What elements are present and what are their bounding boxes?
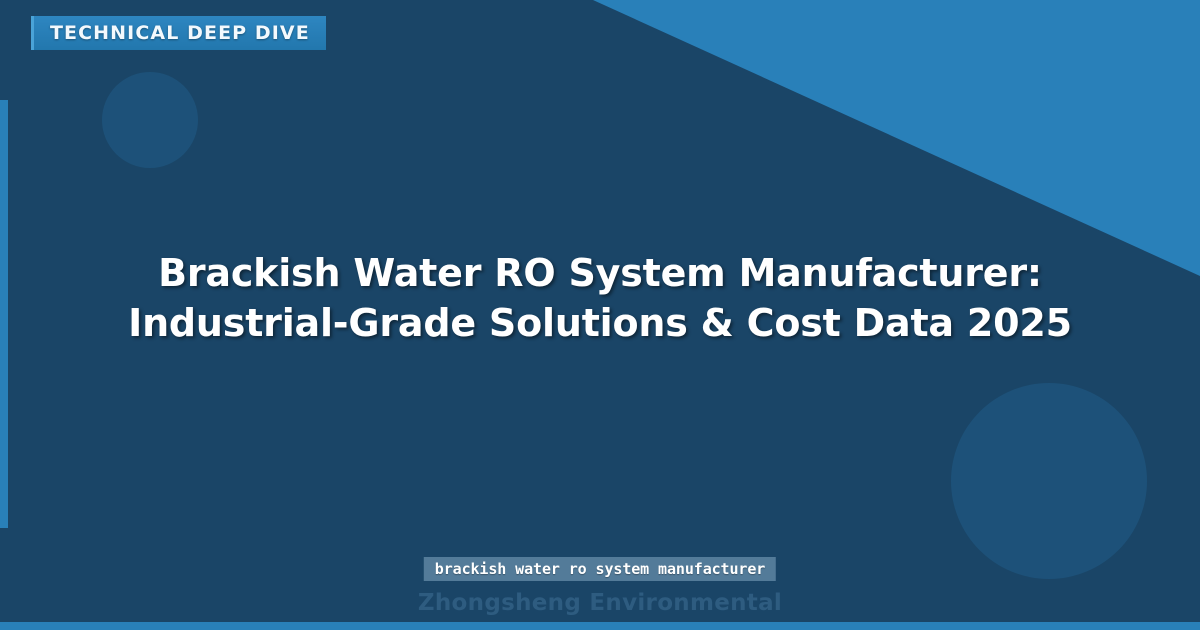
page-title: Brackish Water RO System Manufacturer: I… — [0, 248, 1200, 348]
decorative-circle-bottom-right — [951, 383, 1147, 579]
social-card-canvas: TECHNICAL DEEP DIVE Brackish Water RO Sy… — [0, 0, 1200, 630]
decorative-circle-top-left — [102, 72, 198, 168]
eyebrow-label: TECHNICAL DEEP DIVE — [50, 22, 310, 44]
eyebrow-category-badge: TECHNICAL DEEP DIVE — [31, 16, 326, 50]
brand-name: Zhongsheng Environmental — [418, 590, 782, 616]
keyword-chip: brackish water ro system manufacturer — [424, 557, 776, 581]
bottom-accent-bar — [0, 622, 1200, 630]
headline-line-2: Industrial-Grade Solutions & Cost Data 2… — [60, 298, 1140, 348]
brand-wordmark: Zhongsheng Environmental — [0, 590, 1200, 616]
headline-line-1: Brackish Water RO System Manufacturer: — [60, 248, 1140, 298]
keyword-chip-label: brackish water ro system manufacturer — [435, 560, 765, 578]
